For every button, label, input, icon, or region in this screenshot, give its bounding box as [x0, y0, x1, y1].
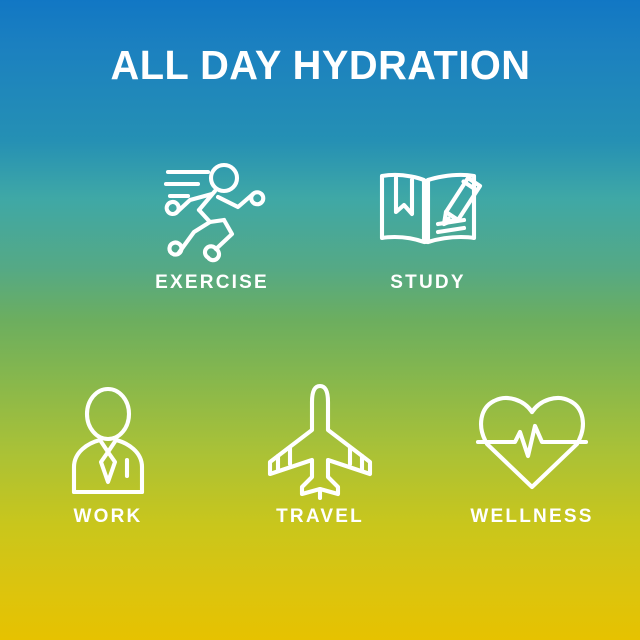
feature-label-travel: TRAVEL	[276, 506, 364, 528]
heart-pulse-icon	[474, 382, 590, 498]
feature-item-travel[interactable]: TRAVEL	[214, 382, 426, 528]
feature-label-wellness: WELLNESS	[470, 506, 593, 528]
airplane-icon	[262, 382, 378, 498]
feature-item-exercise[interactable]: EXERCISE	[104, 150, 320, 294]
hydration-poster: ALL DAY HYDRATION	[0, 0, 640, 640]
page-title: ALL DAY HYDRATION	[110, 44, 530, 87]
feature-label-exercise: EXERCISE	[155, 272, 269, 294]
feature-row-top: EXERCISE	[0, 150, 640, 294]
running-person-icon	[154, 150, 270, 266]
title-container: ALL DAY HYDRATION	[0, 44, 640, 87]
open-book-pencil-icon	[370, 150, 486, 266]
business-person-icon	[50, 382, 166, 498]
feature-item-study[interactable]: STUDY	[320, 150, 536, 294]
feature-label-work: WORK	[74, 506, 143, 528]
feature-label-study: STUDY	[390, 272, 465, 294]
feature-item-wellness[interactable]: WELLNESS	[426, 382, 638, 528]
feature-item-work[interactable]: WORK	[2, 382, 214, 528]
feature-row-bottom: WORK TRAVEL	[0, 382, 640, 528]
